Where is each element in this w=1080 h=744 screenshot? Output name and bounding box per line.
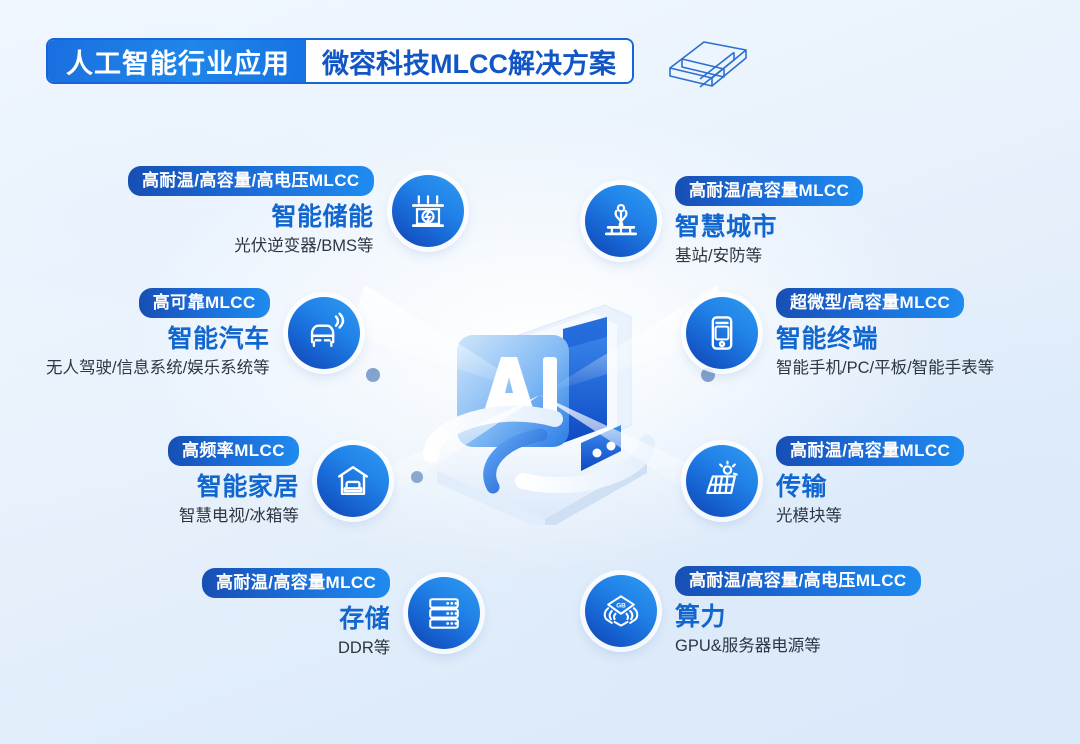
item-smart-vehicle[interactable]: 高可靠MLCC 智能汽车 无人驾驶/信息系统/娱乐系统等 — [46, 288, 360, 379]
gpu-chip-icon: GB — [585, 575, 657, 647]
header-badge: 人工智能行业应用 微容科技MLCC解决方案 — [46, 38, 634, 84]
item-title: 算力 — [675, 603, 726, 632]
item-tag: 超微型/高容量MLCC — [776, 288, 964, 318]
item-subtitle: 无人驾驶/信息系统/娱乐系统等 — [46, 359, 270, 379]
header-badge-left-label: 人工智能行业应用 — [48, 40, 306, 82]
item-subtitle: DDR等 — [338, 639, 390, 659]
item-title: 传输 — [776, 473, 827, 502]
item-tag: 高耐温/高容量/高电压MLCC — [675, 566, 921, 596]
item-tag: 高频率MLCC — [168, 436, 299, 466]
cell-tower-icon — [585, 185, 657, 257]
item-subtitle: GPU&服务器电源等 — [675, 637, 821, 657]
server-rack-icon — [408, 577, 480, 649]
item-title: 智慧城市 — [675, 213, 777, 242]
item-title: 智能储能 — [272, 203, 374, 232]
page-header: 人工智能行业应用 微容科技MLCC解决方案 — [46, 30, 756, 92]
item-computing-power[interactable]: GB 高耐温/高容量/高电压MLCC 算力 GPU&服务器电源等 — [585, 566, 921, 657]
item-title: 智能终端 — [776, 325, 878, 354]
connected-car-icon — [288, 297, 360, 369]
smart-home-icon — [317, 445, 389, 517]
mlcc-chip-icon — [660, 30, 756, 92]
item-smart-terminal[interactable]: 超微型/高容量MLCC 智能终端 智能手机/PC/平板/智能手表等 — [686, 288, 994, 379]
smartphone-icon — [686, 297, 758, 369]
item-tag: 高耐温/高容量MLCC — [776, 436, 964, 466]
item-subtitle: 光伏逆变器/BMS等 — [234, 237, 373, 257]
item-subtitle: 智能手机/PC/平板/智能手表等 — [776, 359, 994, 379]
energy-storage-icon — [392, 175, 464, 247]
item-smart-home[interactable]: 高频率MLCC 智能家居 智慧电视/冰箱等 — [168, 436, 389, 527]
item-subtitle: 基站/安防等 — [675, 247, 762, 267]
item-tag: 高耐温/高容量MLCC — [675, 176, 863, 206]
item-tag: 高可靠MLCC — [139, 288, 270, 318]
ai-cube-icon — [395, 275, 685, 525]
item-tag: 高耐温/高容量/高电压MLCC — [128, 166, 374, 196]
item-title: 存储 — [339, 605, 390, 634]
solar-panel-icon — [686, 445, 758, 517]
item-storage[interactable]: 高耐温/高容量MLCC 存储 DDR等 — [202, 568, 480, 659]
item-subtitle: 智慧电视/冰箱等 — [179, 507, 299, 527]
item-transmission[interactable]: 高耐温/高容量MLCC 传输 光模块等 — [686, 436, 964, 527]
item-smart-city[interactable]: 高耐温/高容量MLCC 智慧城市 基站/安防等 — [585, 176, 863, 267]
header-badge-right-label: 微容科技MLCC解决方案 — [306, 40, 632, 82]
item-title: 智能家居 — [197, 473, 299, 502]
item-title: 智能汽车 — [168, 325, 270, 354]
item-subtitle: 光模块等 — [776, 507, 842, 527]
item-energy-storage[interactable]: 高耐温/高容量/高电压MLCC 智能储能 光伏逆变器/BMS等 — [128, 166, 464, 257]
svg-text:GB: GB — [616, 603, 626, 610]
item-tag: 高耐温/高容量MLCC — [202, 568, 390, 598]
ai-center-illustration — [395, 275, 685, 525]
